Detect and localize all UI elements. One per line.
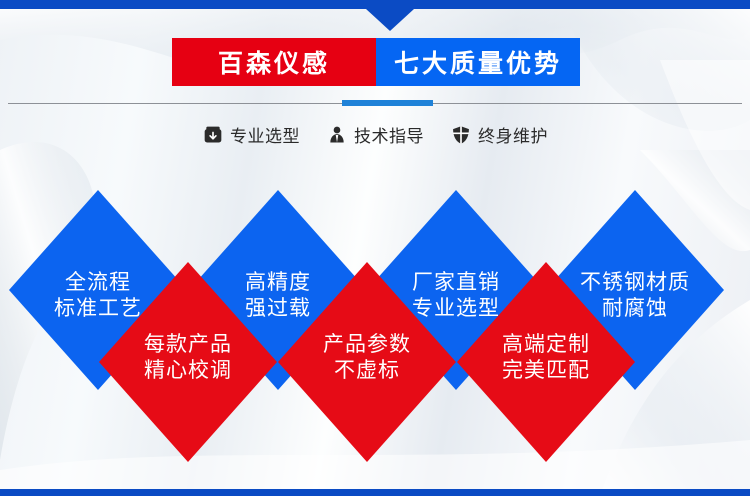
diamond-line-1: 每款产品	[144, 332, 232, 358]
feature-label: 技术指导	[354, 122, 424, 147]
feature-item-selection: 专业选型	[202, 122, 300, 147]
diamond-line-1: 全流程	[54, 270, 142, 296]
bottom-accent-bar	[0, 489, 750, 496]
brand-label: 百森仪感	[172, 38, 376, 86]
diamond-line-2: 耐腐蚀	[580, 296, 690, 322]
feature-item-maintenance: 终身维护	[450, 122, 548, 147]
feature-label: 终身维护	[478, 122, 548, 147]
feature-item-guidance: 技术指导	[326, 122, 424, 147]
feature-icon-row: 专业选型 技术指导 终身维护	[0, 122, 750, 147]
promo-banner: 百森仪感 七大质量优势 专业选型 技术指导	[0, 0, 750, 496]
top-accent-bar	[0, 0, 750, 9]
diamond-line-2: 标准工艺	[54, 296, 142, 322]
diamond-line-2: 专业选型	[412, 296, 500, 322]
diamond-line-1: 厂家直销	[412, 270, 500, 296]
diamond-line-1: 产品参数	[323, 332, 411, 358]
feature-label: 专业选型	[230, 122, 300, 147]
diamond-line-2: 精心校调	[144, 358, 232, 384]
divider-accent	[342, 100, 433, 106]
shield-icon	[450, 124, 472, 146]
diamond-line-1: 高端定制	[502, 332, 590, 358]
diamond-line-1: 高精度	[245, 270, 311, 296]
diamond-line-2: 不虚标	[323, 358, 411, 384]
headline-group: 百森仪感 七大质量优势	[172, 38, 580, 86]
download-box-icon	[202, 124, 224, 146]
top-notch-triangle	[366, 9, 414, 31]
diamond-line-1: 不锈钢材质	[580, 270, 690, 296]
engineer-guide-icon	[326, 124, 348, 146]
section-title: 七大质量优势	[376, 38, 580, 86]
diamond-line-2: 完美匹配	[502, 358, 590, 384]
diamond-line-2: 强过载	[245, 296, 311, 322]
